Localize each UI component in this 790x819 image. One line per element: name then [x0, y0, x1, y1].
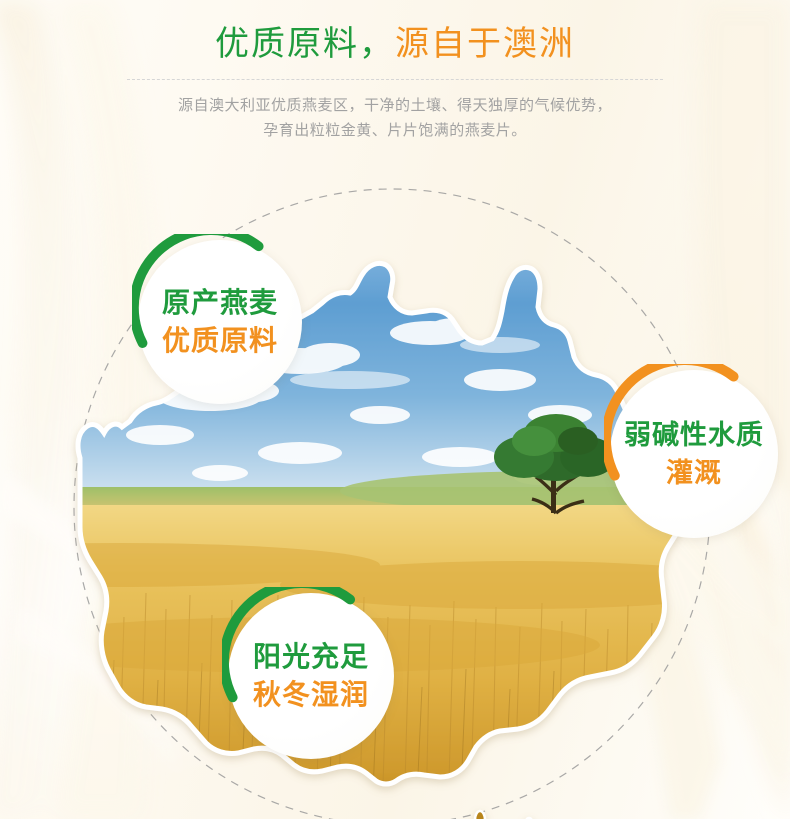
- badge-origin[interactable]: 原产燕麦 优质原料: [138, 240, 302, 404]
- map-stage: 原产燕麦 优质原料 弱碱性水质 灌溉 阳光充足 秋冬湿润: [0, 165, 790, 819]
- subtitle: 源自澳大利亚优质燕麦区，干净的土壤、得天独厚的气候优势， 孕育出粒粒金黄、片片饱…: [0, 93, 790, 143]
- badge-water[interactable]: 弱碱性水质 灌溉: [610, 370, 778, 538]
- badge-sunlight-line-orange: 秋冬湿润: [253, 676, 369, 714]
- badge-water-line-orange: 灌溉: [666, 454, 722, 492]
- badge-sunlight-line-green: 阳光充足: [253, 638, 369, 676]
- badge-sunlight[interactable]: 阳光充足 秋冬湿润: [228, 593, 394, 759]
- header: 优质原料，源自于澳洲 源自澳大利亚优质燕麦区，干净的土壤、得天独厚的气候优势， …: [0, 0, 790, 143]
- title-orange-part: 源自于澳洲: [395, 25, 575, 63]
- promo-page: 优质原料，源自于澳洲 源自澳大利亚优质燕麦区，干净的土壤、得天独厚的气候优势， …: [0, 0, 790, 819]
- badge-origin-line-green: 原产燕麦: [162, 284, 278, 322]
- subtitle-line-1: 源自澳大利亚优质燕麦区，干净的土壤、得天独厚的气候优势，: [0, 93, 790, 118]
- badge-water-line-green: 弱碱性水质: [624, 416, 764, 454]
- title-divider: [127, 79, 663, 80]
- title-green-part: 优质原料，: [215, 25, 395, 63]
- page-title: 优质原料，源自于澳洲: [0, 24, 790, 65]
- badge-origin-line-orange: 优质原料: [162, 322, 278, 360]
- subtitle-line-2: 孕育出粒粒金黄、片片饱满的燕麦片。: [0, 118, 790, 143]
- bass-strait-islets: [475, 811, 537, 819]
